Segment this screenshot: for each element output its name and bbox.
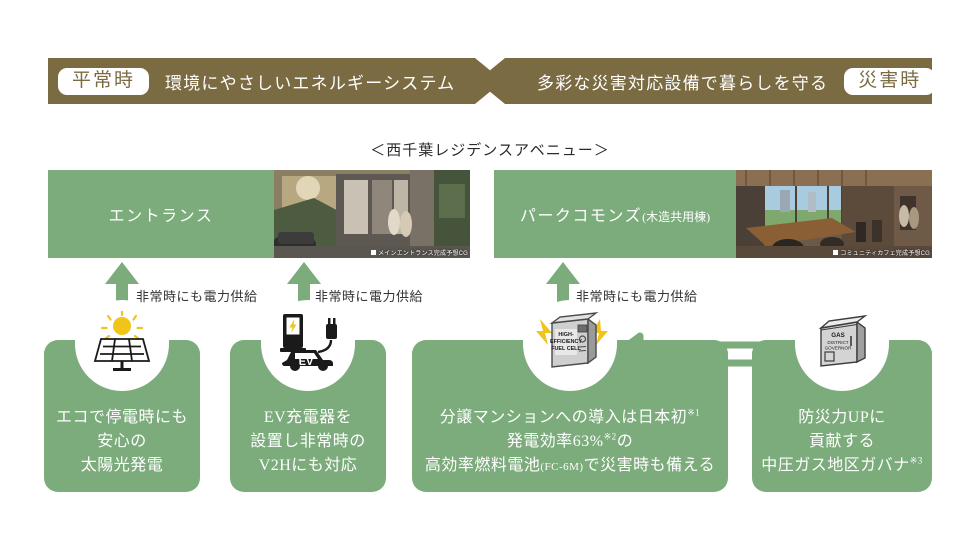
ev-charger-glyph: EV (273, 312, 343, 372)
card-gas-line-2: 貢献する (752, 430, 932, 454)
card-ev-line-1: EV充電器を (230, 406, 386, 430)
power-arrow-1-label: 非常時にも電力供給 (136, 286, 258, 305)
card-gas-governor: GAS DISTRICT GOVERNOR 防災力UPに 貢献する 中圧ガス地区… (752, 340, 932, 492)
card-fc-line-1: 分譲マンションへの導入は日本初※1 (412, 406, 728, 430)
power-arrow-3-label: 非常時にも電力供給 (576, 286, 698, 305)
card-gas-line-3: 中圧ガス地区ガバナ※3 (752, 454, 932, 478)
card-solar-line-1: エコで停電時にも (44, 406, 200, 430)
panel-park-commons: パークコモンズ(木造共用棟) (494, 170, 932, 258)
commons-photo-illustration (736, 170, 932, 258)
card-fc-line-3: 高効率燃料電池(FC-6M)で災害時も備える (412, 454, 728, 478)
panel-commons-label-text: パークコモンズ (520, 208, 642, 225)
banner-right-pill: 災害時 (844, 68, 935, 95)
footnote-ref-3: ※3 (910, 456, 923, 466)
solar-panel-icon (80, 300, 164, 384)
banner-right-text: 多彩な災害対応設備で暮らしを守る (537, 69, 828, 94)
power-arrow-2-label: 非常時に電力供給 (315, 286, 423, 305)
banner-left-text: 環境にやさしいエネルギーシステム (165, 69, 455, 94)
card-solar-text: エコで停電時にも 安心の 太陽光発電 (44, 406, 200, 478)
entrance-photo-illustration (274, 170, 470, 258)
entrance-photo: メインエントランス完成予想CG (274, 170, 470, 258)
commons-photo-caption: コミュニティカフェ完成予想CG (833, 248, 930, 257)
banner-disaster-times: 多彩な災害対応設備で暮らしを守る 災害時 (477, 58, 932, 104)
gas-governor-glyph: GAS DISTRICT GOVERNOR (807, 312, 877, 372)
fuel-cell-model: (FC-6M) (540, 461, 583, 473)
property-name-subtitle: ＜西千葉レジデンスアベニュー＞ (0, 139, 980, 160)
header-banner: 平常時 環境にやさしいエネルギーシステム 多彩な災害対応設備で暮らしを守る 災害… (48, 58, 932, 104)
solar-panel-glyph (89, 311, 155, 373)
card-ev-line-2: 設置し非常時の (230, 430, 386, 454)
card-ev-line-3: V2Hにも対応 (230, 454, 386, 478)
ev-charger-icon: EV (266, 300, 350, 384)
svg-text:GOVERNOR: GOVERNOR (825, 346, 852, 351)
svg-text:FUEL CELL: FUEL CELL (551, 346, 581, 352)
card-gas-text: 防災力UPに 貢献する 中圧ガス地区ガバナ※3 (752, 406, 932, 478)
caption-marker-icon (833, 250, 838, 255)
footnote-ref-2: ※2 (604, 432, 617, 442)
svg-text:EV: EV (299, 356, 314, 368)
panel-commons-label-sub: (木造共用棟) (642, 210, 710, 224)
card-gas-line-1: 防災力UPに (752, 406, 932, 430)
card-fc-line-2: 発電効率63%※2の (412, 430, 728, 454)
svg-text:HIGH-: HIGH- (558, 332, 573, 338)
card-solar-line-3: 太陽光発電 (44, 454, 200, 478)
card-solar: エコで停電時にも 安心の 太陽光発電 (44, 340, 200, 492)
card-ev-text: EV充電器を 設置し非常時の V2Hにも対応 (230, 406, 386, 478)
card-ev-charger: EV EV充電器を 設置し非常時の V2Hにも対応 (230, 340, 386, 492)
entrance-photo-caption: メインエントランス完成予想CG (371, 248, 468, 257)
footnote-ref-1: ※1 (687, 408, 700, 418)
commons-photo: コミュニティカフェ完成予想CG (736, 170, 932, 258)
caption-marker-icon (371, 250, 376, 255)
infographic-canvas: 平常時 環境にやさしいエネルギーシステム 多彩な災害対応設備で暮らしを守る 災害… (0, 0, 980, 551)
card-fuel-cell-text: 分譲マンションへの導入は日本初※1 発電効率63%※2の 高効率燃料電池(FC-… (412, 406, 728, 478)
banner-normal-times: 平常時 環境にやさしいエネルギーシステム (48, 58, 503, 104)
gas-governor-icon: GAS DISTRICT GOVERNOR (800, 300, 884, 384)
card-solar-line-2: 安心の (44, 430, 200, 454)
fuel-cell-icon: HIGH- EFFICIENCY FUEL CELL (528, 300, 612, 384)
panel-entrance-label-text: エントランス (109, 208, 214, 225)
svg-text:DISTRICT: DISTRICT (827, 340, 848, 345)
card-fuel-cell: HIGH- EFFICIENCY FUEL CELL 分譲マンションへの導入は日… (412, 340, 728, 492)
banner-left-pill: 平常時 (58, 68, 149, 95)
svg-text:EFFICIENCY: EFFICIENCY (550, 339, 582, 345)
panel-entrance: エントランス メ (48, 170, 470, 258)
svg-text:GAS: GAS (831, 332, 844, 339)
fuel-cell-glyph: HIGH- EFFICIENCY FUEL CELL (530, 311, 610, 373)
